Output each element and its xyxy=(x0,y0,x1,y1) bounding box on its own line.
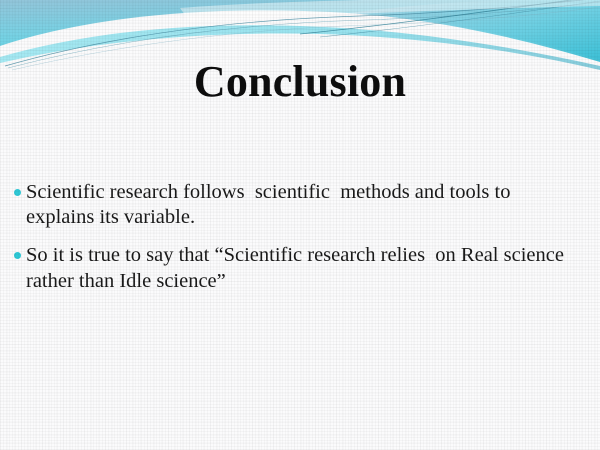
bullet-dot-icon xyxy=(14,252,21,259)
bullet-text: So it is true to say that “Scientific re… xyxy=(26,243,592,293)
bullet-text: Scientific research follows scientific m… xyxy=(26,180,592,230)
slide-title: Conclusion xyxy=(0,58,600,106)
bullet-marker xyxy=(8,243,26,259)
content-placeholder: Scientific research follows scientific m… xyxy=(8,180,592,307)
bullet-marker xyxy=(8,180,26,196)
presentation-slide: Conclusion Scientific research follows s… xyxy=(0,0,600,450)
list-item: Scientific research follows scientific m… xyxy=(8,180,592,230)
title-placeholder: Conclusion xyxy=(0,58,600,106)
list-item: So it is true to say that “Scientific re… xyxy=(8,243,592,293)
bullet-dot-icon xyxy=(14,189,21,196)
